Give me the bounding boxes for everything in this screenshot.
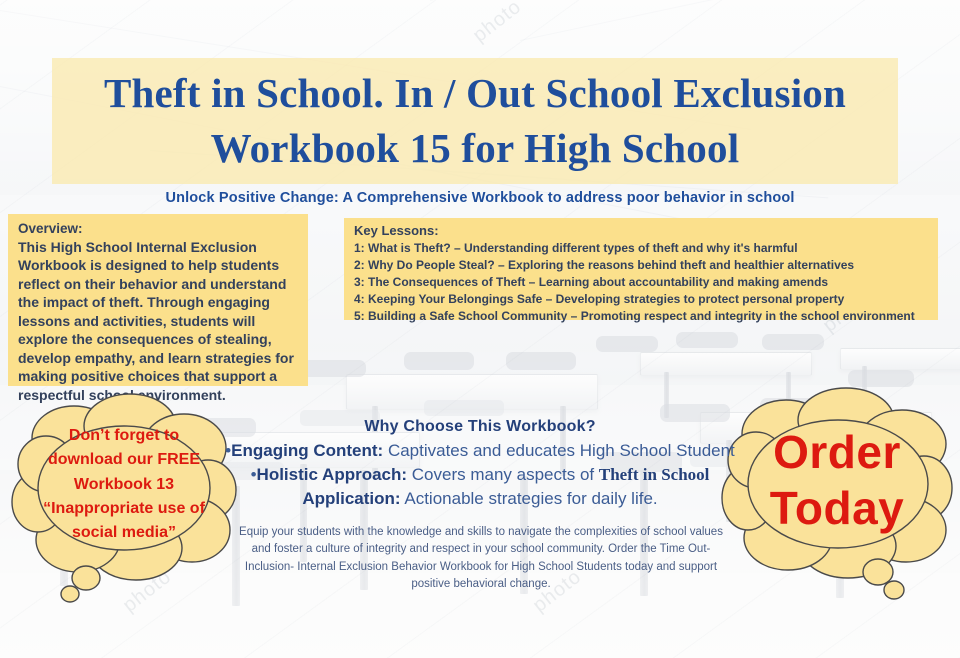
key-lessons-heading: Key Lessons: — [354, 223, 930, 238]
promo-value: Covers many aspects of — [412, 465, 594, 484]
title-banner: Theft in School. In / Out School Exclusi… — [52, 58, 898, 184]
promo-value: Actionable strategies for daily life. — [404, 489, 657, 508]
promo-label: Engaging Content: — [231, 441, 383, 460]
promo-bullet-holistic-approach: •Holistic Approach: Covers many aspects … — [198, 463, 762, 487]
overview-heading: Overview: — [18, 220, 300, 238]
why-choose-heading: Why Choose This Workbook? — [198, 418, 762, 436]
poster-canvas: photo photo photo photo Theft in School.… — [0, 0, 960, 658]
overview-box: Overview: This High School Internal Excl… — [8, 214, 308, 386]
promo-value: Captivates and educates High School Stud… — [388, 441, 735, 460]
overview-body: This High School Internal Exclusion Work… — [18, 238, 300, 404]
promo-emphasis: Theft in School — [599, 465, 710, 484]
lesson-item: 4: Keeping Your Belongings Safe – Develo… — [354, 291, 930, 308]
promo-label: Holistic Approach: — [257, 465, 408, 484]
promo-bullet-engaging-content: •Engaging Content: Captivates and educat… — [198, 439, 762, 463]
lesson-item: 1: What is Theft? – Understanding differ… — [354, 240, 930, 257]
lesson-item: 5: Building a Safe School Community – Pr… — [354, 308, 930, 325]
page-title: Theft in School. In / Out School Exclusi… — [52, 66, 898, 177]
why-choose-section: Why Choose This Workbook? •Engaging Cont… — [198, 418, 762, 511]
lesson-item: 2: Why Do People Steal? – Exploring the … — [354, 257, 930, 274]
footnote-paragraph: Equip your students with the knowledge a… — [236, 524, 726, 594]
promo-bullet-application: Application: Actionable strategies for d… — [198, 487, 762, 511]
promo-label: Application: — [302, 489, 400, 508]
subtitle: Unlock Positive Change: A Comprehensive … — [0, 190, 960, 206]
lesson-item: 3: The Consequences of Theft – Learning … — [354, 274, 930, 291]
key-lessons-box: Key Lessons: 1: What is Theft? – Underst… — [344, 218, 938, 320]
